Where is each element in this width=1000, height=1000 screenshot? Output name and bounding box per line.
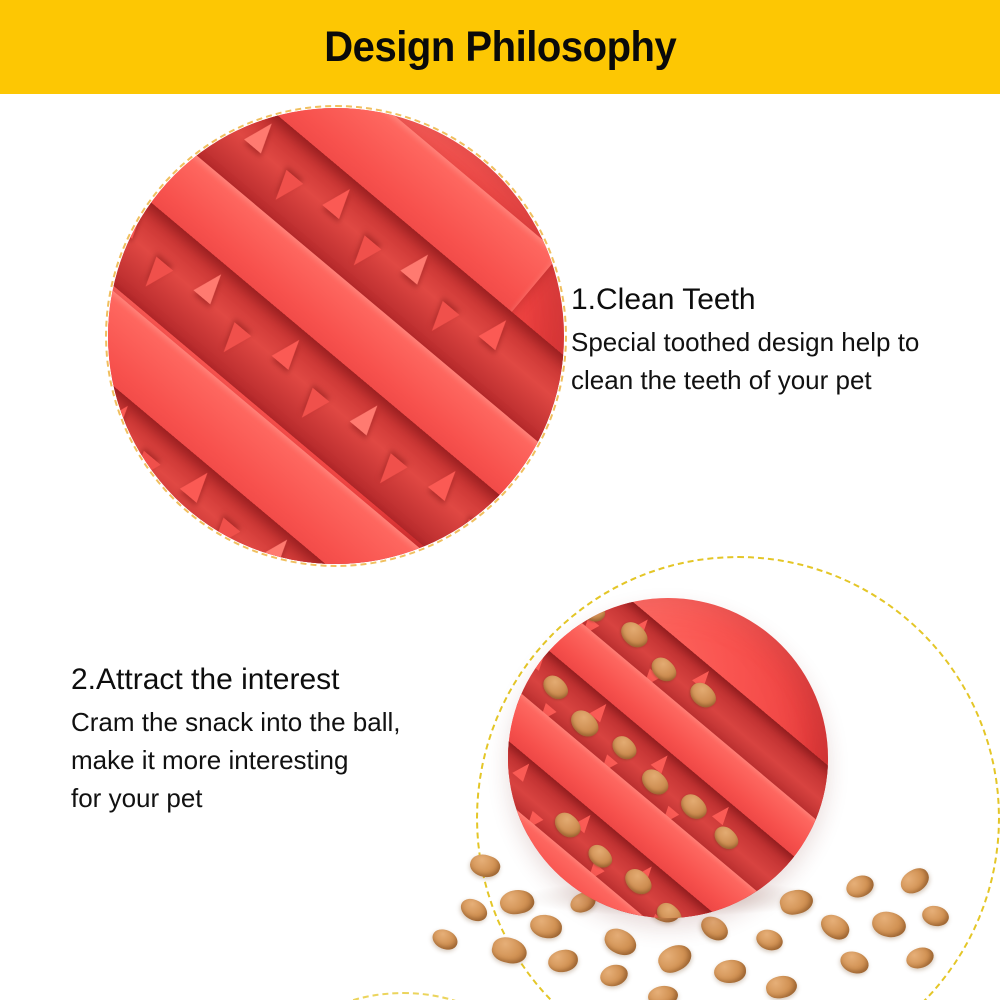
feature-2-text-block: 2.Attract the interest Cram the snack in… [71, 661, 401, 817]
feature-2-heading: 2.Attract the interest [71, 661, 401, 699]
dashed-circle-ring-partial-bottom [268, 992, 538, 1000]
feature-1-heading: 1.Clean Teeth [571, 281, 919, 319]
feature-1-body-line-1: Special toothed design help to [571, 323, 919, 361]
feature-2-body-line-3: for your pet [71, 779, 401, 817]
feature-1-body-line-2: clean the teeth of your pet [571, 361, 919, 399]
feature-2-body-line-2: make it more interesting [71, 741, 401, 779]
infographic-page: Design Philosophy [0, 0, 1000, 1000]
ball-surface [108, 108, 564, 564]
feature-2-body-line-1: Cram the snack into the ball, [71, 703, 401, 741]
header-banner: Design Philosophy [0, 0, 1000, 94]
product-image-toothed-ball [108, 108, 564, 564]
feature-2-body: Cram the snack into the ball, make it mo… [71, 703, 401, 817]
feature-1-text-block: 1.Clean Teeth Special toothed design hel… [571, 281, 919, 399]
feature-1-body: Special toothed design help to clean the… [571, 323, 919, 399]
kibble-ball-surface [508, 598, 828, 918]
page-title: Design Philosophy [324, 26, 676, 69]
product-image-kibble-ball [508, 598, 828, 918]
